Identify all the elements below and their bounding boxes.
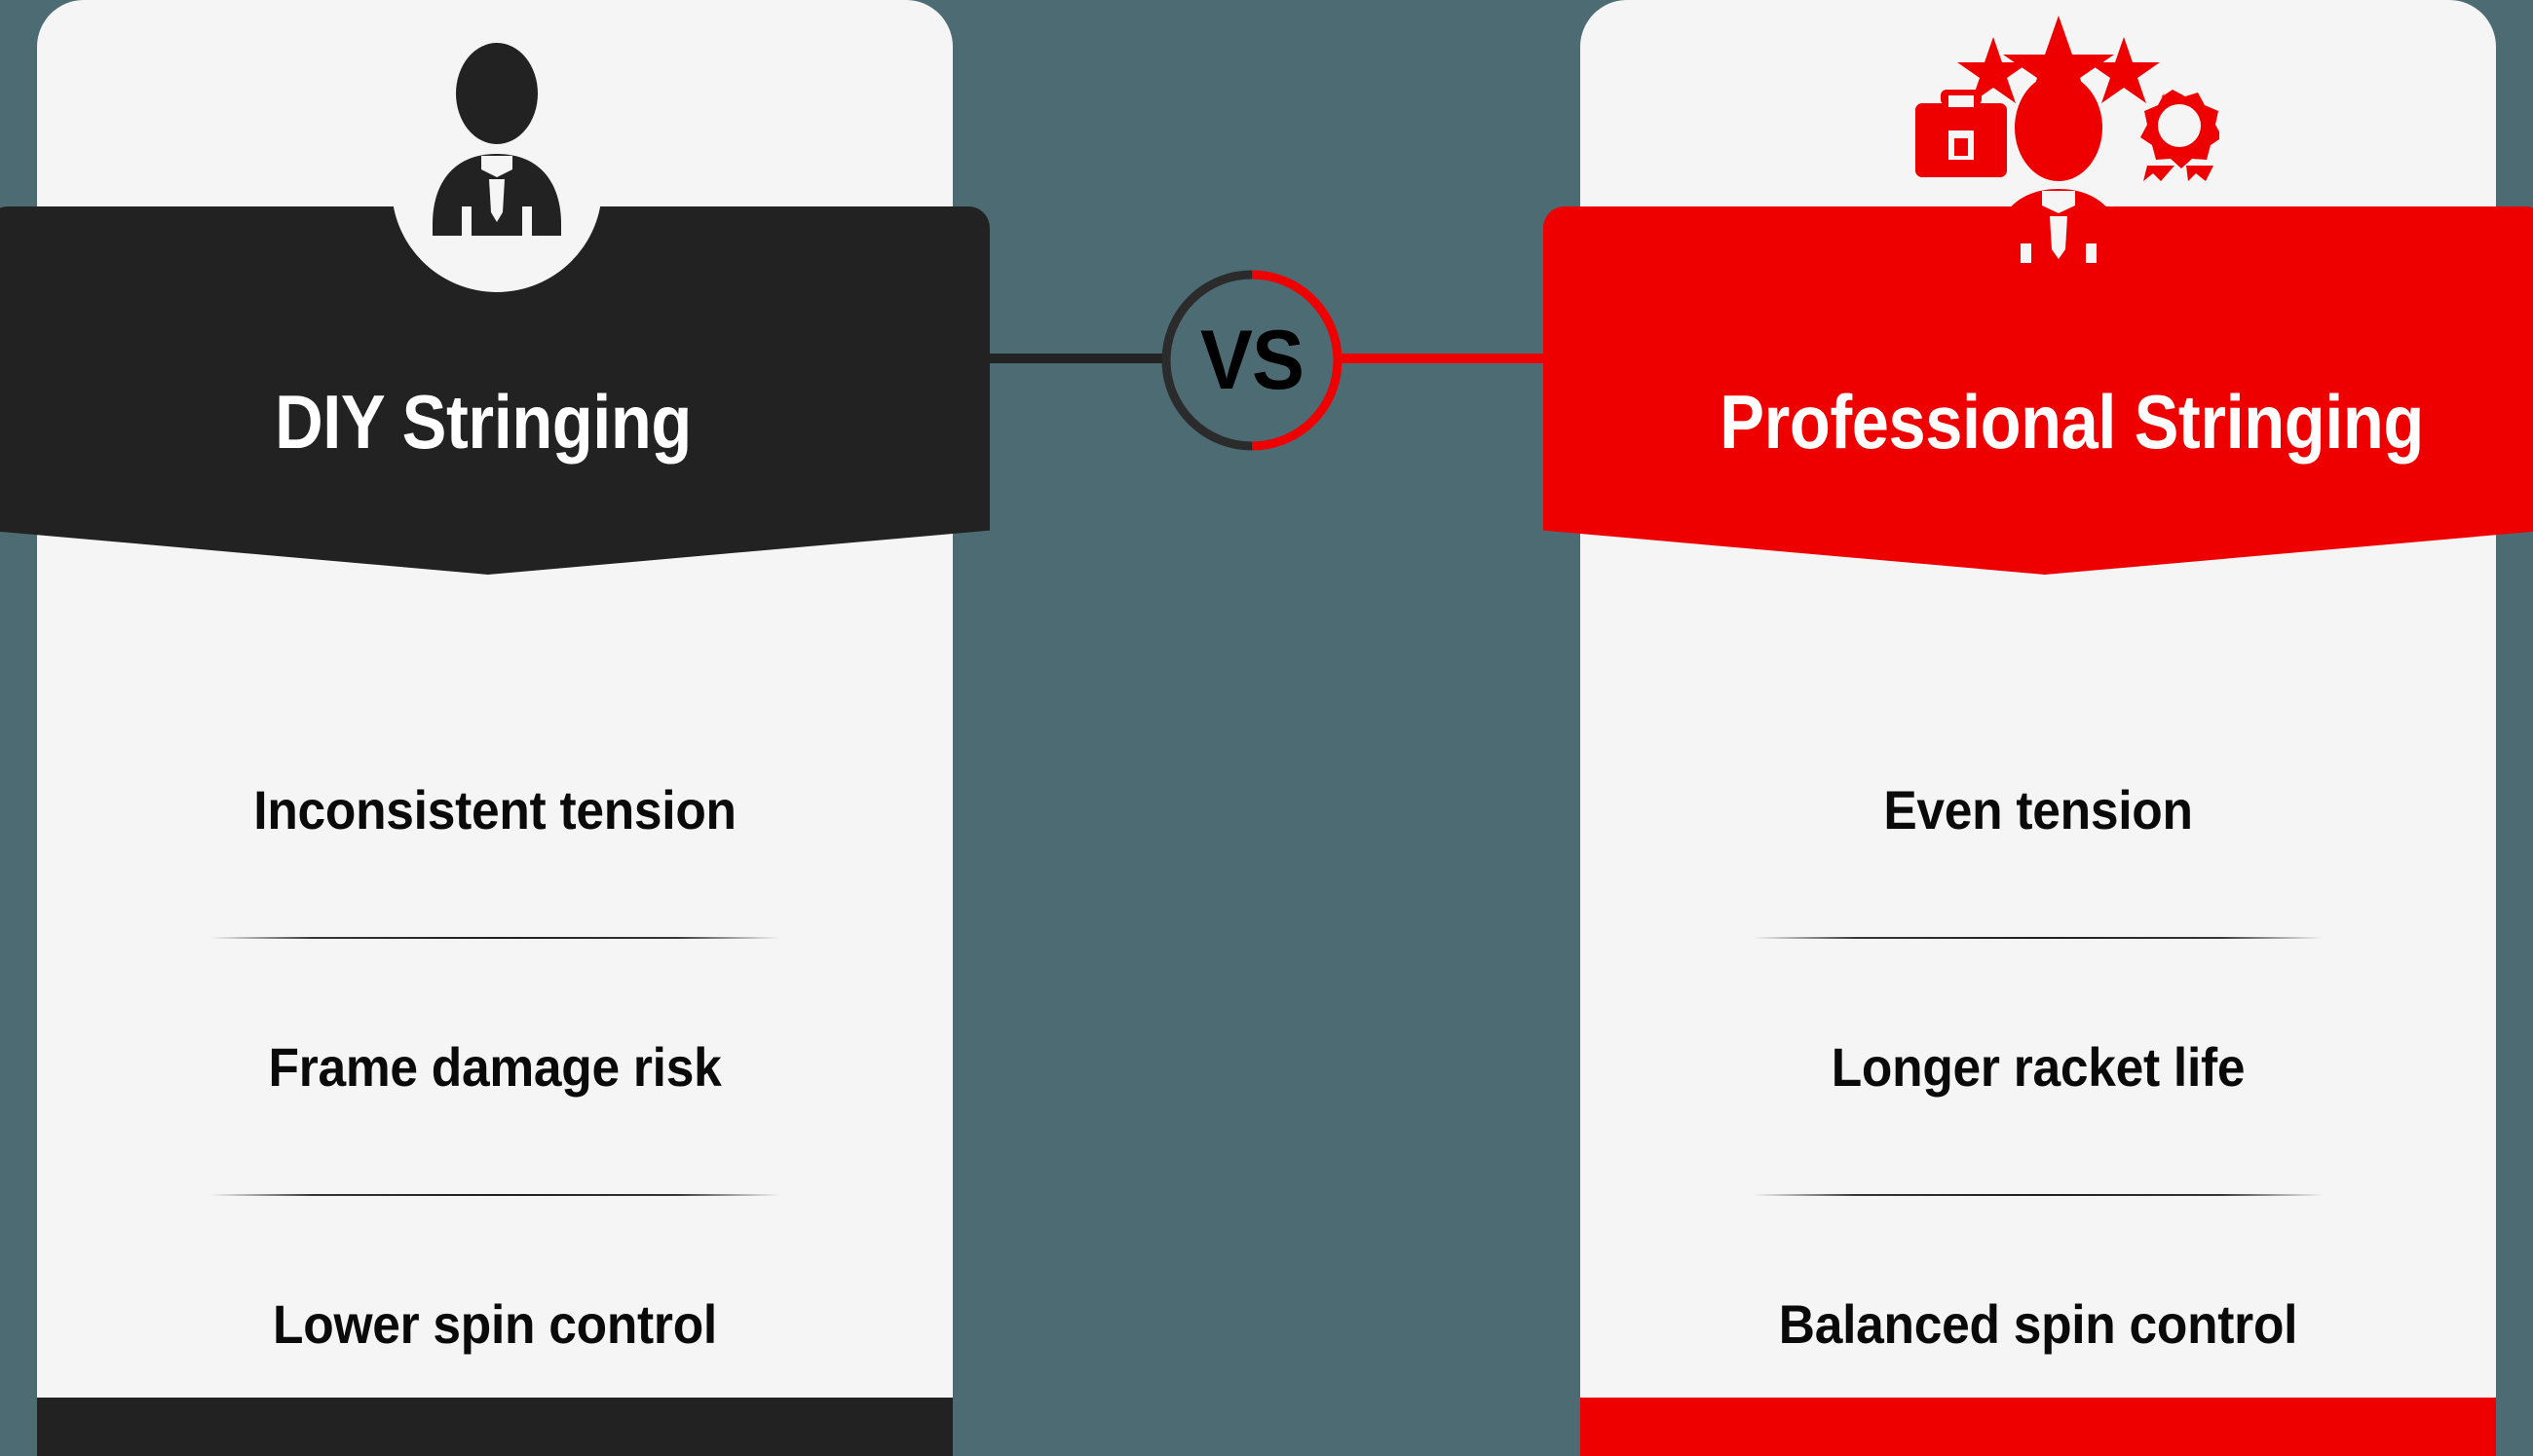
professional-expert-icon	[1898, 8, 2219, 263]
right-panel-title: Professional Stringing	[1720, 384, 2425, 575]
right-connector-line	[1341, 354, 1547, 363]
list-item: Even tension	[1724, 682, 2352, 937]
vs-badge: VS	[1159, 268, 1344, 453]
list-item: Balanced spin control	[1724, 1196, 2352, 1451]
left-panel-title: DIY Stringing	[275, 384, 692, 575]
list-item: Frame damage risk	[181, 939, 809, 1194]
left-feature-list: Inconsistent tension Frame damage risk L…	[154, 682, 836, 1451]
briefcase-icon	[1915, 90, 2007, 177]
list-item: Inconsistent tension	[181, 682, 809, 937]
businessman-icon	[380, 33, 614, 257]
list-item: Lower spin control	[181, 1196, 809, 1451]
comparison-infographic: Inconsistent tension Frame damage risk L…	[0, 0, 2533, 1456]
right-feature-list: Even tension Longer racket life Balanced…	[1697, 682, 2379, 1451]
vs-label: VS	[1165, 268, 1340, 453]
award-badge-icon	[2140, 90, 2219, 181]
list-item: Longer racket life	[1724, 939, 2352, 1194]
left-connector-line	[982, 354, 1163, 363]
